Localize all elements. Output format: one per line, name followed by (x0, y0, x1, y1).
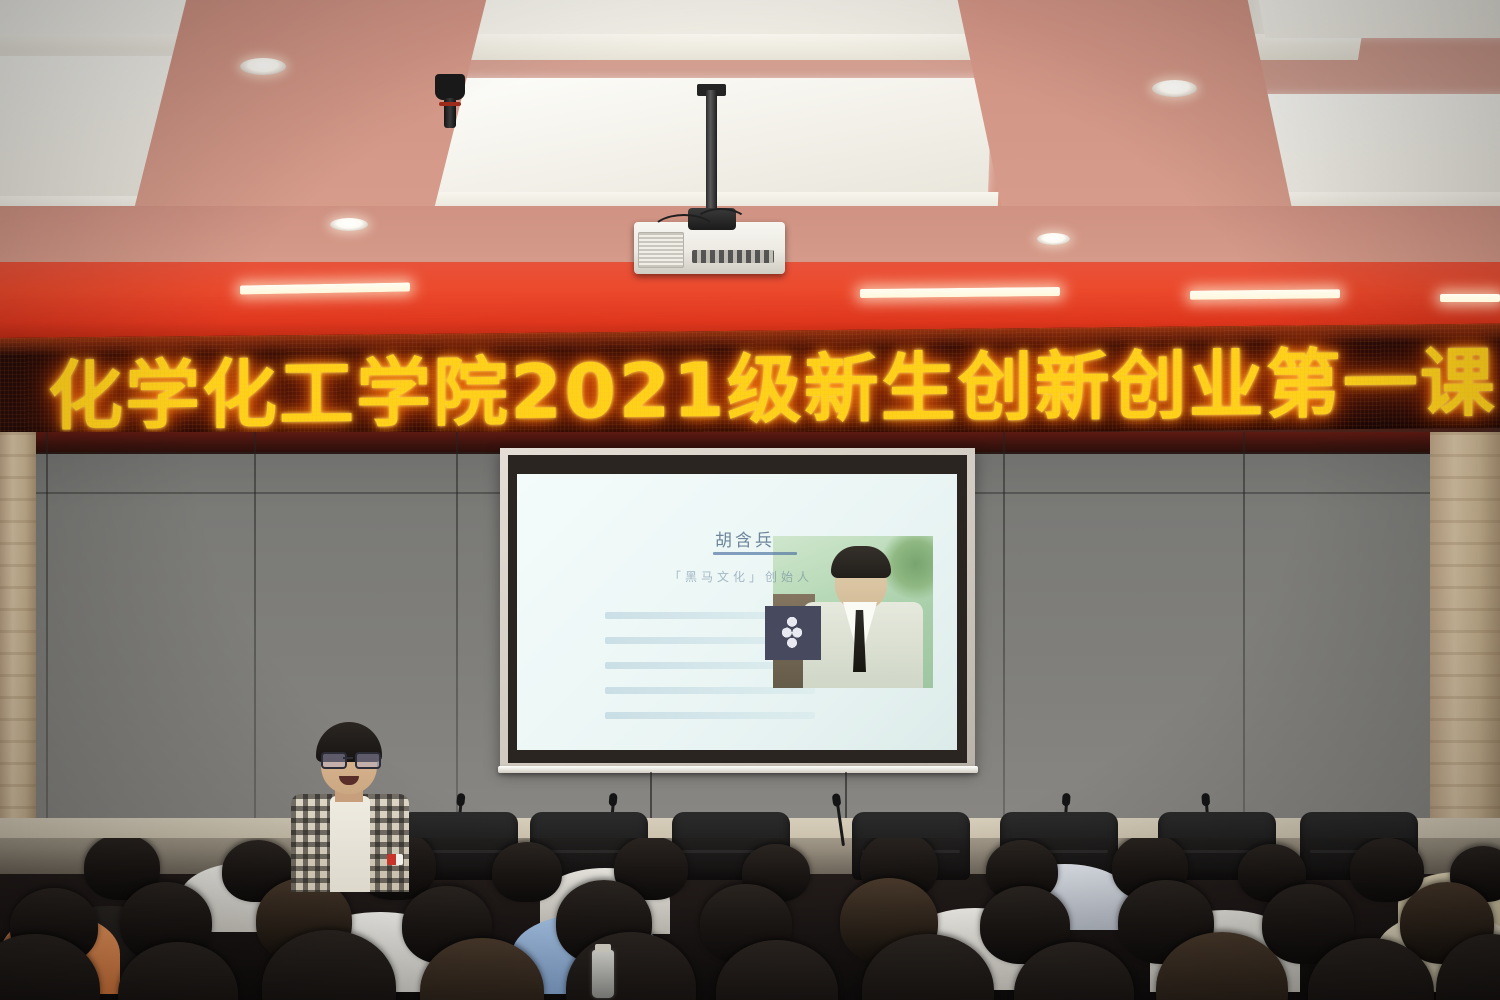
screen-cord (845, 772, 847, 824)
projector-pole (706, 90, 717, 218)
slide-speaker-subtitle: 「黑马文化」创始人 (669, 568, 813, 585)
strip-light-icon (1190, 289, 1340, 300)
wall-seam-vertical (46, 432, 48, 862)
downlight-icon (240, 58, 286, 75)
strip-light-icon (1440, 294, 1500, 302)
wall-column-left (0, 432, 36, 862)
water-bottle-cap (595, 944, 611, 952)
jacket-logo-patch (387, 854, 403, 865)
projection-screen-surface: 胡含兵 「黑马文化」创始人 (517, 474, 957, 750)
glasses-icon (321, 752, 377, 765)
projection-screen-bottom-bar (498, 766, 978, 773)
projector-cable (694, 208, 748, 238)
led-banner: 化学化工学院2021级新生创新创业第一课 (0, 324, 1500, 442)
slide-logo-badge (765, 606, 821, 660)
wall-seam-vertical (1003, 432, 1005, 862)
lecture-hall-scene: 化学化工学院2021级新生创新创业第一课 胡含兵 「黑 (0, 0, 1500, 1000)
slide-speaker-name: 胡含兵 (715, 526, 775, 551)
led-banner-text: 化学化工学院2021级新生创新创业第一课 (48, 324, 1497, 442)
projector-ports (692, 250, 774, 263)
ceiling-skylight-right-upper (1251, 0, 1500, 38)
slide-name-underline (713, 552, 797, 555)
downlight-icon (330, 218, 368, 231)
stage-spotlight-icon (435, 74, 465, 136)
water-bottle (592, 950, 614, 998)
audience-crowd (0, 838, 1500, 1000)
audience-head (1350, 838, 1424, 902)
downlight-icon (1037, 233, 1070, 245)
audience-head (492, 842, 562, 902)
wall-seam-vertical (254, 432, 256, 862)
presenter-standing (275, 722, 425, 892)
wall-seam-vertical (1243, 432, 1245, 862)
wall-column-right (1430, 432, 1500, 862)
screen-cord (650, 772, 652, 824)
downlight-icon (1152, 80, 1197, 97)
ceiling-panel-right (956, 0, 1295, 220)
